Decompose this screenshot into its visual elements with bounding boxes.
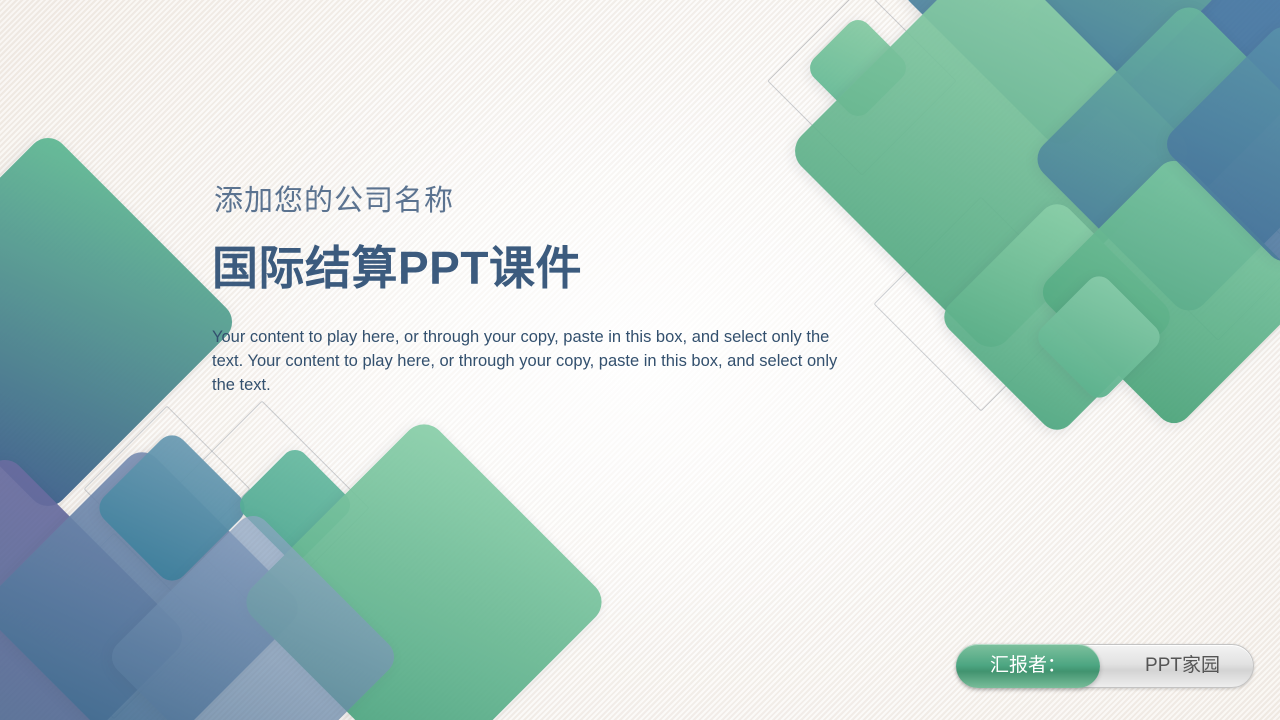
presenter-badge: PPT家园 汇报者： — [956, 644, 1254, 688]
presenter-name-label: PPT家园 — [1145, 644, 1220, 688]
presentation-slide: 添加您的公司名称 国际结算PPT课件 Your content to play … — [0, 0, 1280, 720]
page-title: 国际结算PPT课件 — [212, 244, 872, 292]
body-paragraph: Your content to play here, or through yo… — [212, 326, 852, 398]
title-text-block: 添加您的公司名称 国际结算PPT课件 Your content to play … — [212, 186, 872, 398]
company-name-subtitle: 添加您的公司名称 — [214, 186, 872, 218]
presenter-role-label: 汇报者： — [956, 644, 1100, 688]
